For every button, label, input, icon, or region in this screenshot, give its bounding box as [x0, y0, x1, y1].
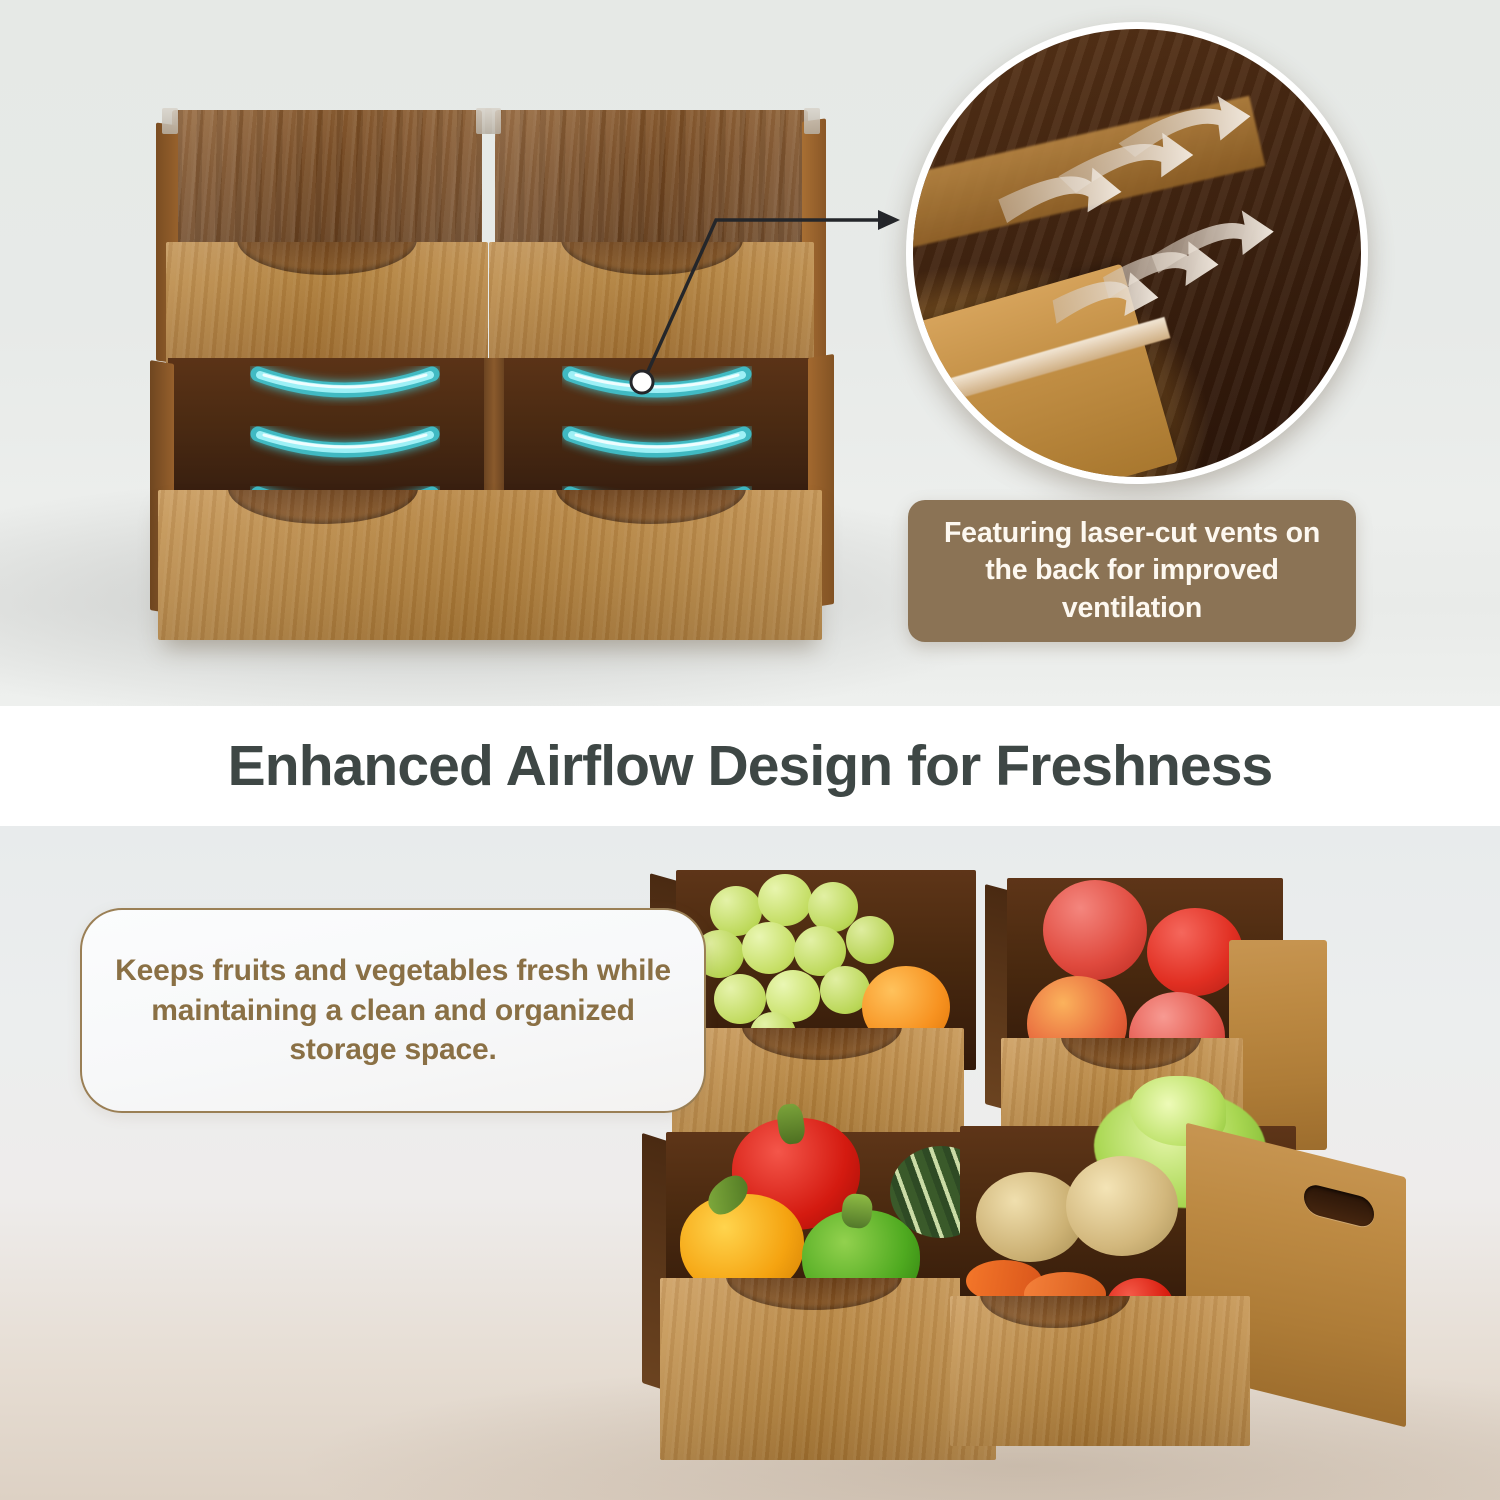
produce-potato [1066, 1156, 1178, 1256]
callout-leader-line [600, 180, 920, 410]
bin-bottom-right [940, 1120, 1470, 1470]
airflow-detail-magnifier [906, 22, 1368, 484]
airflow-arrows-icon [913, 29, 1361, 477]
page-title: Enhanced Airflow Design for Freshness [228, 733, 1273, 799]
top-feature-panel: Featuring laser-cut vents on the back fo… [0, 0, 1500, 706]
produce-apple [1043, 880, 1147, 980]
headline-band: Enhanced Airflow Design for Freshness [0, 706, 1500, 826]
product-image-filled-bins [640, 870, 1470, 1470]
callout-keeps-fresh: Keeps fruits and vegetables fresh while … [80, 908, 706, 1113]
callout-laser-cut-vents-text: Featuring laser-cut vents on the back fo… [908, 515, 1356, 627]
callout-laser-cut-vents: Featuring laser-cut vents on the back fo… [908, 500, 1356, 642]
upper-bin-left [172, 110, 482, 360]
callout-keeps-fresh-text: Keeps fruits and vegetables fresh while … [82, 951, 704, 1070]
side-carry-handle [1304, 1182, 1374, 1229]
